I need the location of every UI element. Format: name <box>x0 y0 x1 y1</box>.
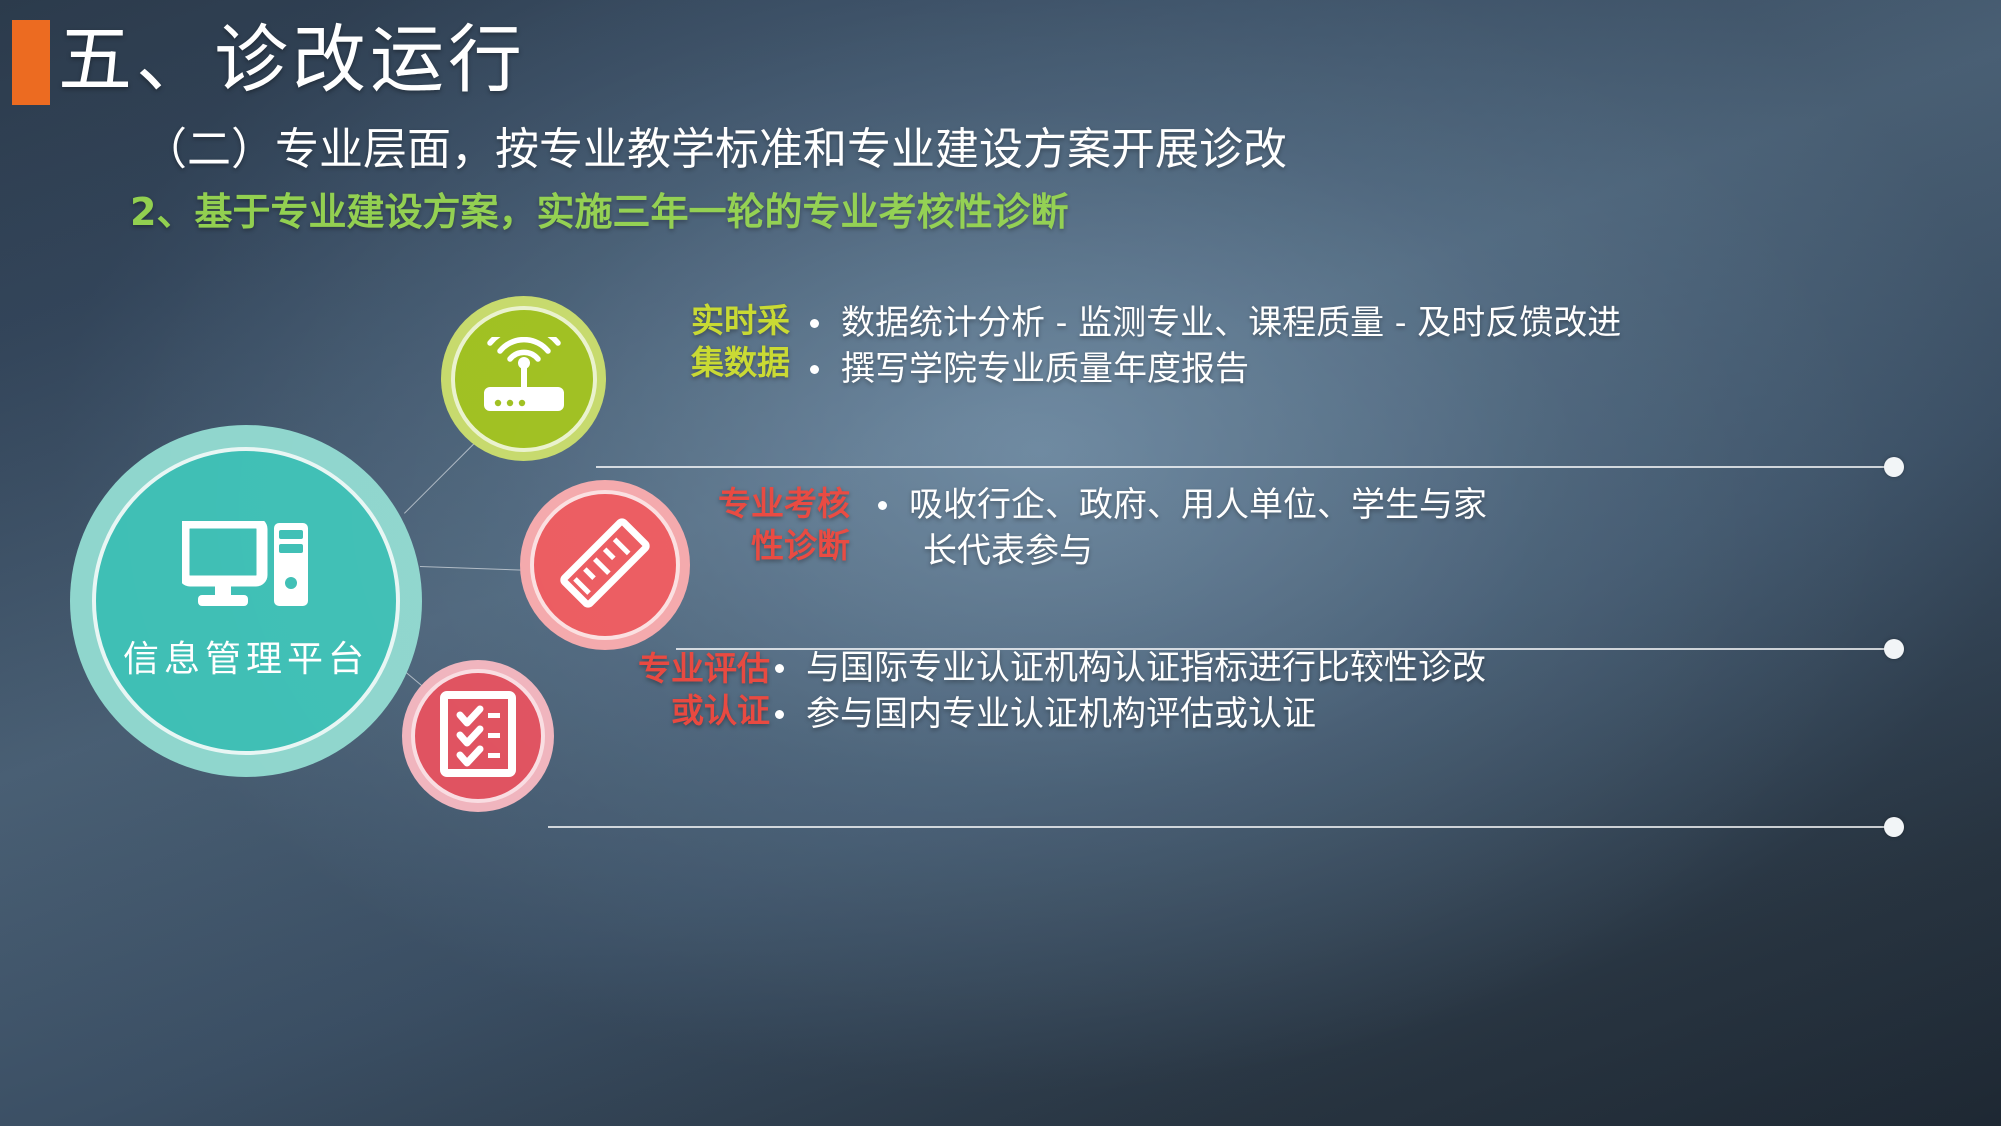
list-item: 参与国内专业认证机构评估或认证 <box>775 691 1486 737</box>
row-3-bullet-2: 参与国内专业认证机构评估或认证 <box>806 691 1316 737</box>
page-subtitle: （二）专业层面，按专业教学标准和专业建设方案开展诊改 <box>143 120 1287 180</box>
node-inner-1 <box>451 306 597 452</box>
list-item: 数据统计分析 - 监测专业、课程质量 - 及时反馈改进 <box>810 300 1621 346</box>
page-title: 五、诊改运行 <box>58 12 526 108</box>
list-item: 与国际专业认证机构认证指标进行比较性诊改 <box>775 645 1486 691</box>
row-1-bullets: 数据统计分析 - 监测专业、课程质量 - 及时反馈改进 撰写学院专业质量年度报告 <box>810 300 1621 392</box>
row-1-label-line2: 集数据 <box>691 343 790 382</box>
rail-end-dot-1 <box>1884 457 1904 477</box>
row-1-label-line1: 实时采 <box>691 301 790 340</box>
hub-inner: 信息管理平台 <box>92 447 400 755</box>
row-2-bullet-1: 吸收行企、政府、用人单位、学生与家 长代表参与 <box>909 482 1487 574</box>
hub-node-information-platform[interactable]: 信息管理平台 <box>70 425 422 777</box>
row-2-label-line1: 专业考核 <box>718 484 850 523</box>
bullet-dot-icon <box>810 365 819 374</box>
row-3-bullet-1: 与国际专业认证机构认证指标进行比较性诊改 <box>806 645 1486 691</box>
row-1-label: 实时采 集数据 <box>620 300 790 384</box>
hub-label: 信息管理平台 <box>123 630 369 682</box>
row-2-bullet-1-line1: 吸收行企、政府、用人单位、学生与家 <box>909 485 1487 525</box>
ruler-icon <box>557 515 653 616</box>
bullet-dot-icon <box>775 664 784 673</box>
row-2-label-line2: 性诊断 <box>751 526 850 565</box>
list-item: 吸收行企、政府、用人单位、学生与家 长代表参与 <box>878 482 1487 574</box>
wifi-router-icon <box>478 337 570 420</box>
section-heading: 2、基于专业建设方案，实施三年一轮的专业考核性诊断 <box>130 186 1068 238</box>
rail-end-dot-2 <box>1884 639 1904 659</box>
row-1-bullet-1: 数据统计分析 - 监测专业、课程质量 - 及时反馈改进 <box>841 300 1621 346</box>
checklist-icon <box>440 691 516 782</box>
desktop-computer-icon <box>182 521 310 618</box>
row-2-bullet-1-line2: 长代表参与 <box>909 528 1487 574</box>
row-3-label: 专业评估 或认证 <box>600 648 770 732</box>
bullet-dot-icon <box>810 319 819 328</box>
row-2-bullets: 吸收行企、政府、用人单位、学生与家 长代表参与 <box>878 482 1487 574</box>
rail-end-dot-3 <box>1884 817 1904 837</box>
rail-row-3 <box>548 826 1892 828</box>
node-inner-3 <box>411 669 545 803</box>
row-1-bullet-2: 撰写学院专业质量年度报告 <box>841 346 1249 392</box>
node-inner-2 <box>530 490 680 640</box>
node-major-evaluation[interactable] <box>402 660 554 812</box>
list-item: 撰写学院专业质量年度报告 <box>810 346 1621 392</box>
node-realtime-data[interactable] <box>441 296 606 461</box>
node-major-assessment[interactable] <box>520 480 690 650</box>
connector-hub-to-node2 <box>420 566 526 571</box>
row-3-label-line1: 专业评估 <box>638 649 770 688</box>
row-3-label-line2: 或认证 <box>671 691 770 730</box>
bullet-dot-icon <box>775 710 784 719</box>
accent-bar <box>12 20 50 105</box>
slide-canvas: 五、诊改运行 （二）专业层面，按专业教学标准和专业建设方案开展诊改 2、基于专业… <box>0 0 2001 1126</box>
row-3-bullets: 与国际专业认证机构认证指标进行比较性诊改 参与国内专业认证机构评估或认证 <box>775 645 1486 737</box>
bullet-dot-icon <box>878 501 887 510</box>
rail-row-1 <box>596 466 1892 468</box>
row-2-label: 专业考核 性诊断 <box>680 483 850 567</box>
